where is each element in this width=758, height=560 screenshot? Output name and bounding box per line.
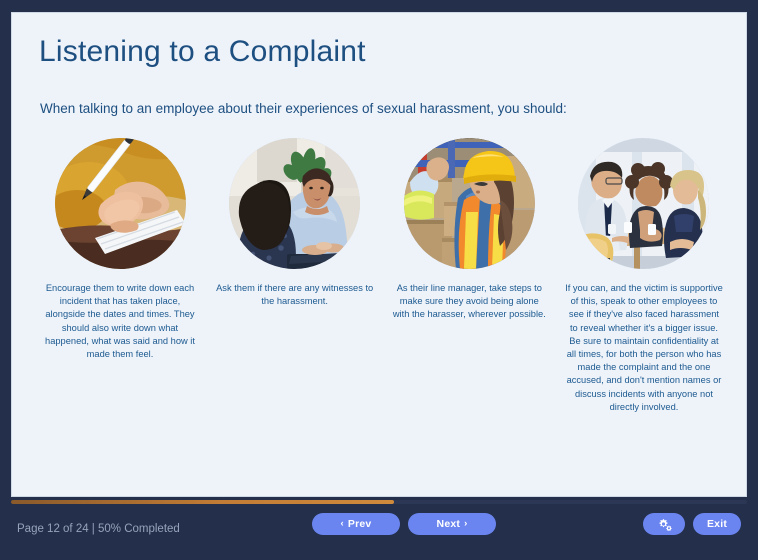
column-caption: If you can, and the victim is supportive… [565,282,723,414]
prev-button-label: Prev [348,519,372,530]
next-button[interactable]: Next › [408,513,496,535]
course-progress-fill [11,500,394,504]
next-button-label: Next [437,519,461,530]
course-player: Listening to a Complaint When talking to… [0,0,758,560]
column-caption: As their line manager, take steps to mak… [390,282,548,322]
course-progress-bar[interactable] [11,500,747,504]
page-title: Listening to a Complaint [39,35,366,69]
photo-hand-writing-notes [55,138,186,269]
content-column: Ask them if there are any witnesses to t… [215,138,375,308]
slide-canvas: Listening to a Complaint When talking to… [11,12,747,497]
content-column: Encourage them to write down each incide… [40,138,200,361]
column-caption: Ask them if there are any witnesses to t… [216,282,374,308]
settings-button[interactable] [643,513,685,535]
content-column: If you can, and the victim is supportive… [564,138,724,414]
page-status-text: Page 12 of 24 | 50% Completed [17,523,180,535]
photo-colleagues-meeting [578,138,709,269]
player-utility-controls: Exit [643,513,741,535]
content-column: As their line manager, take steps to mak… [389,138,549,322]
column-caption: Encourage them to write down each incide… [41,282,199,361]
chevron-right-icon: › [464,519,467,529]
exit-button-label: Exit [707,519,727,530]
cogs-icon [657,518,672,531]
slide-subtitle: When talking to an employee about their … [40,101,567,116]
navigation-controls: ‹ Prev Next › [312,513,496,535]
prev-button[interactable]: ‹ Prev [312,513,400,535]
photo-two-women-talking [229,138,360,269]
photo-warehouse-workers [404,138,535,269]
exit-button[interactable]: Exit [693,513,741,535]
chevron-left-icon: ‹ [341,519,344,529]
content-columns: Encourage them to write down each incide… [40,138,724,414]
